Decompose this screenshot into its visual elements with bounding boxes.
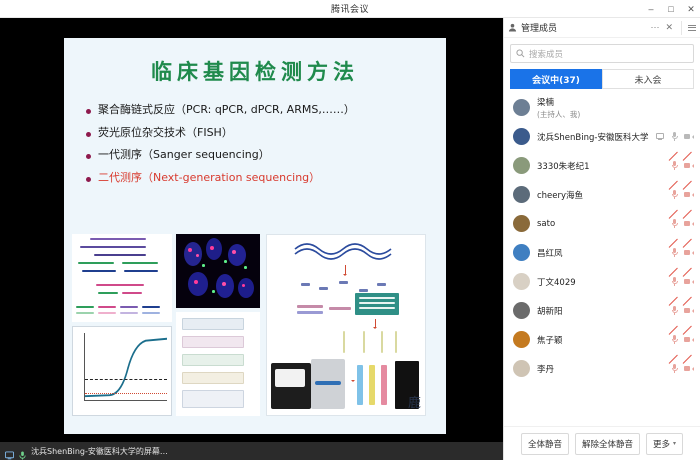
- participant-row[interactable]: 胡新阳: [504, 296, 700, 325]
- slide-bullet: 荧光原位杂交技术（FISH）: [86, 127, 446, 140]
- screen-share-icon[interactable]: [656, 132, 665, 142]
- panel-header: 管理成员 ··· ✕: [504, 18, 700, 38]
- camera-off-icon[interactable]: [684, 219, 693, 229]
- window-title: 腾讯会议: [331, 2, 369, 15]
- participant-row[interactable]: 3330朱老纪1: [504, 151, 700, 180]
- camera-off-icon[interactable]: [684, 364, 693, 374]
- minimize-button[interactable]: –: [646, 5, 656, 14]
- curve-axes: [84, 333, 167, 401]
- bullet-text: 荧光原位杂交技术（FISH）: [98, 127, 233, 140]
- participant-info: cheery海鱼: [537, 189, 670, 201]
- search-input[interactable]: 搜索成员: [510, 44, 694, 63]
- slide-bullet: 一代测序（Sanger sequencing）: [86, 149, 446, 162]
- participant-status-icons: [670, 161, 693, 171]
- figure-sanger-flow: [176, 312, 260, 416]
- avatar: [513, 186, 530, 203]
- panel-footer: 全体静音 解除全体静音 更多 ▾: [504, 426, 700, 460]
- camera-off-icon[interactable]: [684, 190, 693, 200]
- avatar: [513, 128, 530, 145]
- participant-name: 丁文4029: [537, 276, 670, 288]
- participants-panel: 管理成员 ··· ✕ 搜索成员 会议中(37) 未入会: [503, 18, 700, 460]
- avatar: [513, 273, 530, 290]
- microphone-icon: [18, 447, 27, 456]
- camera-off-icon[interactable]: [684, 306, 693, 316]
- microphone-muted-icon[interactable]: [670, 335, 679, 345]
- slide-bullet: 二代测序（Next-generation sequencing）: [86, 172, 446, 185]
- meeting-window: 腾讯会议 – □ ✕ 临床基因检测方法 聚合酶链式反应（PCR: qPCR, d…: [0, 0, 700, 460]
- bullet-dot-icon: [86, 109, 91, 114]
- avatar: [513, 157, 530, 174]
- bullet-text: 聚合酶链式反应（PCR: qPCR, dPCR, ARMS,……）: [98, 104, 355, 117]
- microphone-muted-icon[interactable]: [670, 248, 679, 258]
- participant-row[interactable]: 昌红凤: [504, 238, 700, 267]
- chevron-down-icon: ▾: [673, 440, 676, 447]
- participant-row[interactable]: 沈兵ShenBing-安徽医科大学: [504, 122, 700, 151]
- participant-role: (主持人、我): [537, 109, 693, 120]
- mute-all-button[interactable]: 全体静音: [521, 433, 569, 455]
- participant-row[interactable]: sato: [504, 209, 700, 238]
- bullet-dot-icon: [86, 154, 91, 159]
- participant-row[interactable]: 焦子颖: [504, 325, 700, 354]
- camera-off-icon[interactable]: [684, 277, 693, 287]
- participant-info: 李丹: [537, 363, 670, 375]
- panel-header-divider: [681, 21, 682, 35]
- avatar: [513, 215, 530, 232]
- avatar: [513, 331, 530, 348]
- participants-tabs: 会议中(37) 未入会: [510, 69, 694, 89]
- camera-off-icon[interactable]: [684, 161, 693, 171]
- figure-ngs-workflow: 鹿: [266, 234, 426, 416]
- figure-pcr-schematic: [72, 234, 172, 322]
- bullet-text: 一代测序（Sanger sequencing）: [98, 149, 270, 162]
- panel-header-controls: ··· ✕: [650, 21, 696, 35]
- participant-status-icons: [670, 306, 693, 316]
- bullet-dot-icon: [86, 177, 91, 182]
- slide-bullet-list: 聚合酶链式反应（PCR: qPCR, dPCR, ARMS,……） 荧光原位杂交…: [86, 104, 446, 185]
- participant-status-icons: [670, 364, 693, 374]
- panel-title: 管理成员: [521, 21, 557, 34]
- participant-info: 沈兵ShenBing-安徽医科大学: [537, 131, 656, 143]
- participant-status-icons: [670, 190, 693, 200]
- participant-name: sato: [537, 219, 670, 229]
- unmute-all-button[interactable]: 解除全体静音: [575, 433, 640, 455]
- genomic-dna-strand: [267, 235, 425, 295]
- participant-name: 焦子颖: [537, 334, 670, 346]
- tab-not-joined[interactable]: 未入会: [602, 69, 694, 89]
- participant-status-icons: [670, 219, 693, 229]
- participants-list[interactable]: 梁楠 (主持人、我) 沈兵ShenBing-安徽医科大学: [504, 89, 700, 426]
- slide-title: 临床基因检测方法: [64, 56, 446, 86]
- camera-off-icon[interactable]: [684, 335, 693, 345]
- microphone-muted-icon[interactable]: [670, 219, 679, 229]
- hamburger-icon[interactable]: [688, 25, 696, 31]
- slide-bullet: 聚合酶链式反应（PCR: qPCR, dPCR, ARMS,……）: [86, 104, 446, 117]
- slide-watermark: 鹿: [408, 392, 421, 411]
- screen-share-statusbar: 沈兵ShenBing-安徽医科大学的屏幕…: [0, 442, 503, 460]
- microphone-muted-icon[interactable]: [670, 277, 679, 287]
- participant-name: 3330朱老纪1: [537, 160, 670, 172]
- participant-name: 李丹: [537, 363, 670, 375]
- camera-icon[interactable]: [684, 132, 693, 142]
- bullet-dot-icon: [86, 132, 91, 137]
- participant-info: 丁文4029: [537, 276, 670, 288]
- participant-name: 梁楠: [537, 96, 693, 108]
- search-section: 搜索成员: [504, 38, 700, 67]
- participant-row[interactable]: 梁楠 (主持人、我): [504, 93, 700, 122]
- shared-screen-stage[interactable]: 临床基因检测方法 聚合酶链式反应（PCR: qPCR, dPCR, ARMS,……: [0, 18, 503, 442]
- participant-status-icons: [670, 277, 693, 287]
- participant-status-icons: [670, 335, 693, 345]
- figure-qpcr-curve: [72, 326, 172, 416]
- microphone-muted-icon[interactable]: [670, 190, 679, 200]
- search-icon: [516, 45, 525, 63]
- more-label: 更多: [653, 438, 670, 450]
- microphone-muted-icon[interactable]: [670, 306, 679, 316]
- avatar: [513, 302, 530, 319]
- maximize-button[interactable]: □: [666, 5, 676, 14]
- microphone-icon[interactable]: [670, 132, 679, 142]
- close-button[interactable]: ✕: [686, 5, 696, 14]
- panel-close-button[interactable]: ✕: [665, 23, 673, 32]
- bullet-text: 二代测序（Next-generation sequencing）: [98, 172, 320, 185]
- screen-share-icon: [5, 447, 14, 456]
- slide-figures: 鹿: [72, 234, 438, 428]
- participant-name: 沈兵ShenBing-安徽医科大学: [537, 131, 656, 143]
- avatar: [513, 360, 530, 377]
- participant-info: 昌红凤: [537, 247, 670, 259]
- participant-row[interactable]: 丁文4029: [504, 267, 700, 296]
- amplification-curve: [85, 333, 167, 400]
- more-options-button[interactable]: 更多 ▾: [646, 433, 683, 455]
- microphone-muted-icon[interactable]: [670, 364, 679, 374]
- participant-info: 焦子颖: [537, 334, 670, 346]
- window-controls: – □ ✕: [646, 0, 696, 18]
- participant-row[interactable]: cheery海鱼: [504, 180, 700, 209]
- participant-name: 昌红凤: [537, 247, 670, 259]
- participant-status-icons: [656, 132, 693, 142]
- microphone-muted-icon[interactable]: [670, 161, 679, 171]
- tab-in-meeting[interactable]: 会议中(37): [510, 69, 602, 89]
- window-titlebar: 腾讯会议 – □ ✕: [0, 0, 700, 18]
- person-icon: [508, 19, 517, 37]
- screen-share-status-text: 沈兵ShenBing-安徽医科大学的屏幕…: [31, 446, 168, 457]
- participant-info: 梁楠 (主持人、我): [537, 96, 693, 120]
- participant-info: sato: [537, 219, 670, 229]
- avatar: [513, 244, 530, 261]
- avatar: [513, 99, 530, 116]
- participant-row[interactable]: 李丹: [504, 354, 700, 383]
- participant-info: 3330朱老纪1: [537, 160, 670, 172]
- participant-name: 胡新阳: [537, 305, 670, 317]
- participant-status-icons: [670, 248, 693, 258]
- figure-fish-micrograph: [176, 234, 260, 308]
- camera-off-icon[interactable]: [684, 248, 693, 258]
- presentation-slide: 临床基因检测方法 聚合酶链式反应（PCR: qPCR, dPCR, ARMS,……: [64, 38, 446, 434]
- participant-name: cheery海鱼: [537, 189, 670, 201]
- search-placeholder: 搜索成员: [529, 48, 563, 60]
- panel-more-button[interactable]: ···: [650, 23, 659, 32]
- participant-info: 胡新阳: [537, 305, 670, 317]
